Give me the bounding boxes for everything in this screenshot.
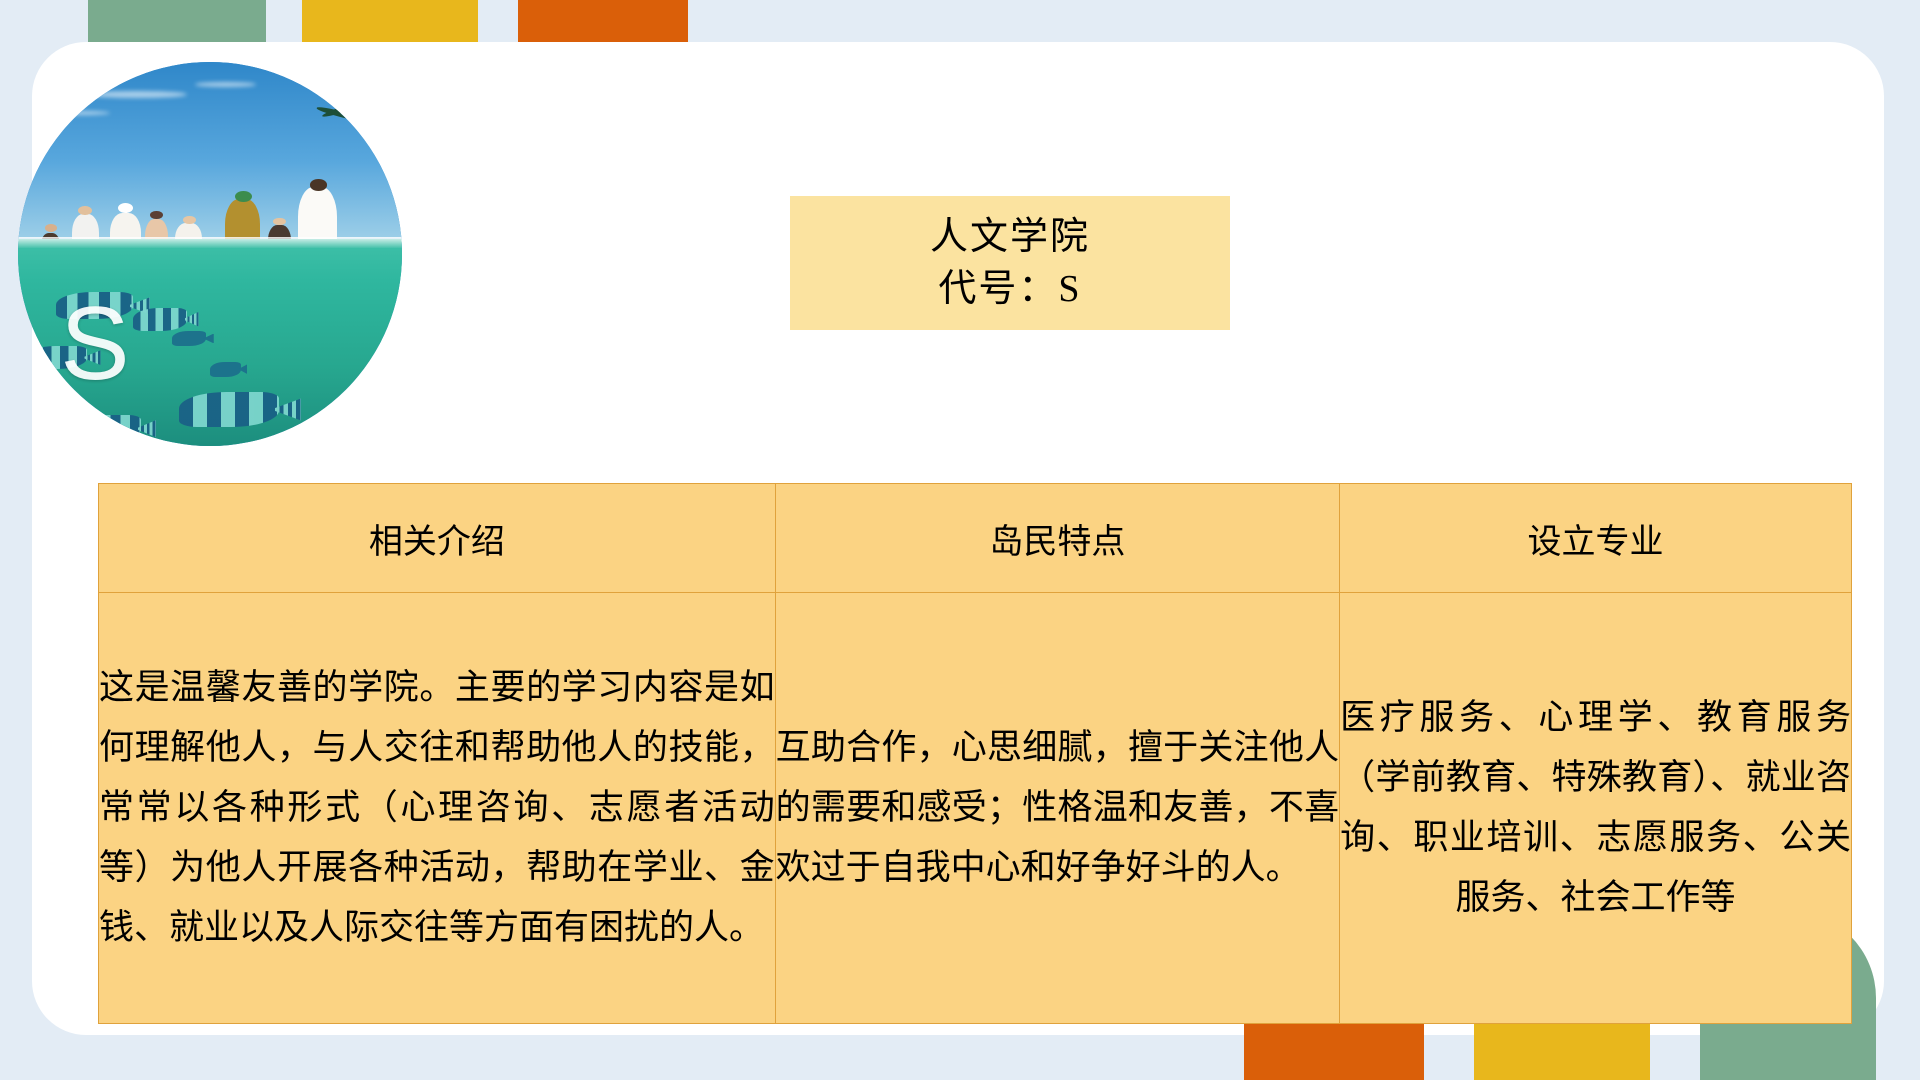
- college-title-box: 人文学院 代号：S: [790, 196, 1230, 330]
- cloud-icon: [41, 111, 110, 116]
- island-photo-badge: S: [18, 62, 402, 446]
- palm-tree-icon: [302, 102, 386, 142]
- cell-traits: 互助合作，心思细腻，擅于关注他人的需要和感受；性格温和友善，不喜欢过于自我中心和…: [775, 593, 1339, 1024]
- cloud-icon: [87, 91, 187, 98]
- college-info-table: 相关介绍 岛民特点 设立专业 这是温馨友善的学院。主要的学习内容是如何理解他人，…: [98, 483, 1852, 1024]
- fish-icon: [172, 331, 207, 346]
- college-name: 人文学院: [930, 211, 1090, 263]
- cell-intro: 这是温馨友善的学院。主要的学习内容是如何理解他人，与人交往和帮助他人的技能，常常…: [99, 593, 776, 1024]
- fish-icon: [210, 362, 241, 377]
- table-header-intro: 相关介绍: [99, 484, 776, 593]
- cell-majors: 医疗服务、心理学、教育服务（学前教育、特殊教育）、就业咨询、职业培训、志愿服务、…: [1340, 593, 1852, 1024]
- fish-icon: [179, 392, 279, 427]
- table-header-row: 相关介绍 岛民特点 设立专业: [99, 484, 1852, 593]
- fish-icon: [133, 308, 187, 331]
- badge-letter: S: [60, 292, 129, 396]
- fish-icon: [72, 415, 141, 442]
- cloud-icon: [195, 82, 256, 87]
- slide-canvas: S 人文学院 代号：S 相关介绍 岛民特点 设立专业 这是温馨友善的学院。主要的…: [0, 0, 1920, 1080]
- table-row: 这是温馨友善的学院。主要的学习内容是如何理解他人，与人交往和帮助他人的技能，常常…: [99, 593, 1852, 1024]
- table-header-traits: 岛民特点: [775, 484, 1339, 593]
- college-code: 代号：S: [938, 263, 1081, 315]
- photo-waterline: [18, 237, 402, 249]
- table-header-majors: 设立专业: [1340, 484, 1852, 593]
